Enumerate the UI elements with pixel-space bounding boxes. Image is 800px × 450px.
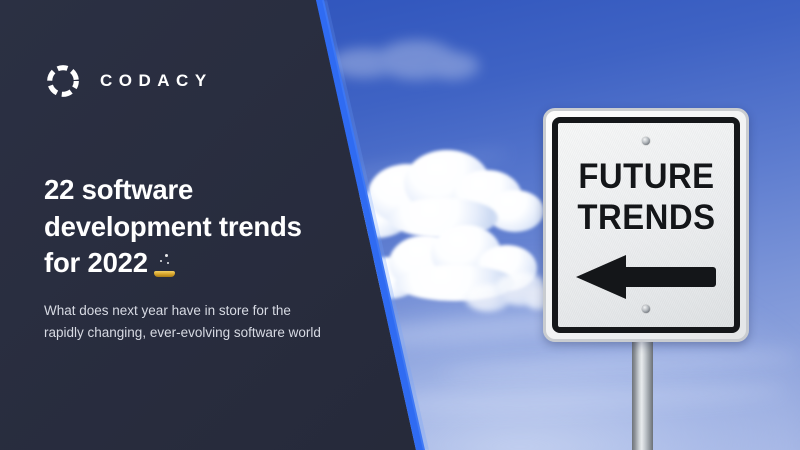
brand-wordmark: CODACY	[100, 71, 213, 91]
headline-line-2: development trends	[44, 211, 302, 242]
codacy-segmented-circle-icon	[44, 62, 82, 100]
cloud	[465, 272, 555, 314]
marketing-banner: FUTURE TRENDS CODACY 22 sof	[0, 0, 800, 450]
subtitle-line-2: rapidly changing, ever-evolving software…	[44, 325, 321, 340]
headline-line-1: 22 software	[44, 174, 193, 205]
headline-line-3: for 2022	[44, 247, 148, 278]
cloud	[330, 40, 480, 86]
subtitle-line-1: What does next year have in store for th…	[44, 303, 291, 318]
brand-logo[interactable]: CODACY	[44, 62, 213, 100]
page-subtitle: What does next year have in store for th…	[44, 300, 399, 344]
sign-inner-border: FUTURE TRENDS	[552, 117, 740, 333]
crystal-ball-emoji	[152, 249, 177, 277]
sign-post	[632, 330, 653, 450]
road-sign: FUTURE TRENDS	[543, 108, 749, 342]
sign-text-line-1: FUTURE	[578, 159, 714, 194]
sign-plate: FUTURE TRENDS	[543, 108, 749, 342]
arrow-left-icon	[576, 255, 716, 299]
sign-text-line-2: TRENDS	[577, 200, 715, 235]
page-title: 22 software development trends for 2022	[44, 172, 374, 282]
